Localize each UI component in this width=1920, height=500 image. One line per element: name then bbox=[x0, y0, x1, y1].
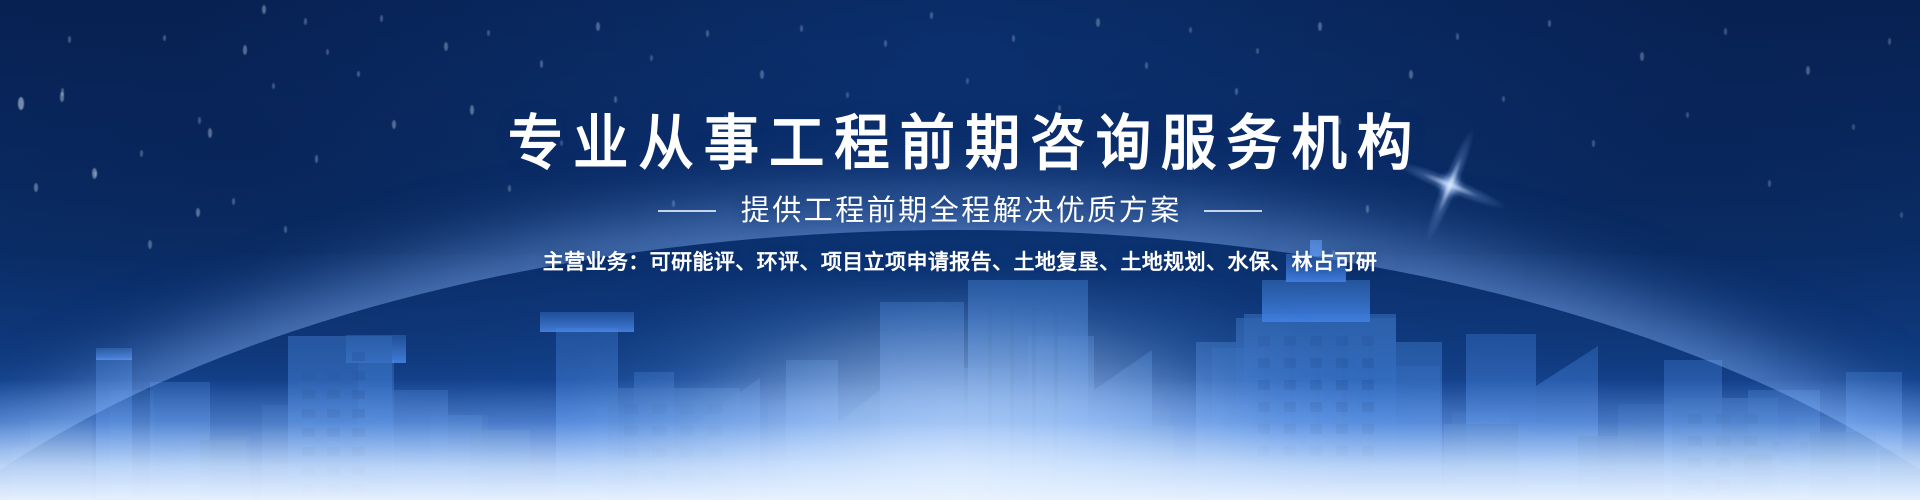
landmark-windows bbox=[1258, 336, 1374, 456]
rule-right-icon bbox=[1204, 210, 1262, 212]
skyline-layer-mid bbox=[96, 302, 1902, 500]
building-windows bbox=[302, 352, 365, 494]
building-stripes bbox=[1266, 340, 1370, 500]
ground-glow bbox=[0, 380, 1920, 500]
page-title: 专业从事工程前期咨询服务机构 bbox=[77, 0, 1843, 176]
center-light-beam bbox=[580, 290, 1340, 500]
banner-subtitle: 提供工程前期全程解决优质方案 bbox=[738, 194, 1182, 228]
hero-banner: 专业从事工程前期咨询服务机构 提供工程前期全程解决优质方案 主营业务：可研能评、… bbox=[0, 0, 1920, 500]
skyline-layer-near bbox=[12, 240, 1920, 500]
rule-left-icon bbox=[658, 210, 716, 212]
banner-content: 专业从事工程前期咨询服务机构 提供工程前期全程解决优质方案 主营业务：可研能评、… bbox=[0, 0, 1920, 276]
main-services-line: 主营业务：可研能评、环评、项目立项申请报告、土地复垦、土地规划、水保、林占可研 bbox=[0, 250, 1920, 276]
subtitle-row: 提供工程前期全程解决优质方案 bbox=[0, 194, 1920, 228]
landmark-spire-tower bbox=[1196, 240, 1442, 500]
skyline-layer-far bbox=[30, 390, 1920, 500]
city-skyline bbox=[0, 240, 1920, 500]
